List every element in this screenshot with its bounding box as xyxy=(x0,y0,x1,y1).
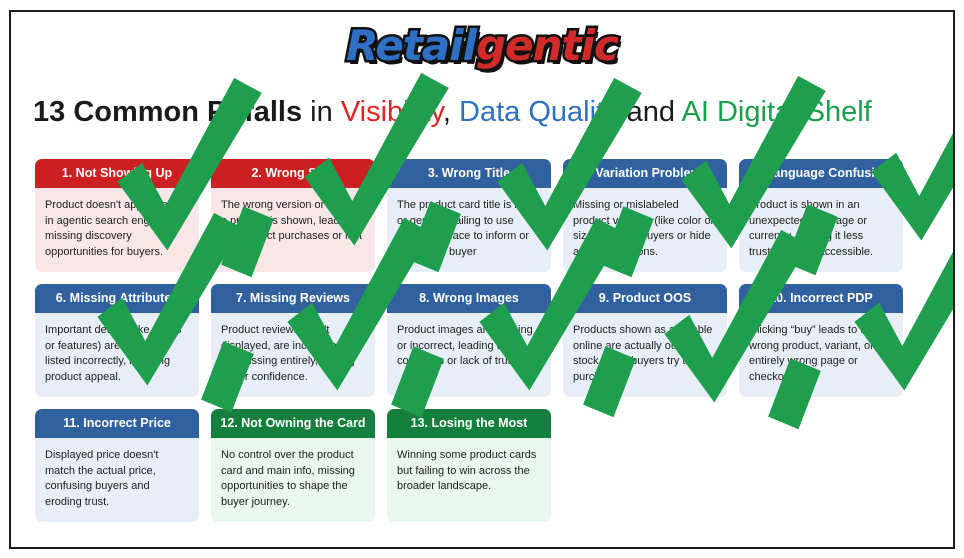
pitfall-card[interactable]: 3. Wrong TitleThe product card title is … xyxy=(387,159,551,272)
pitfall-card-title: 6. Missing Attributes xyxy=(35,284,199,313)
pitfall-card[interactable]: 1. Not Showing UpProduct doesn't appear … xyxy=(35,159,199,272)
pitfall-card[interactable]: 6. Missing AttributesImportant details (… xyxy=(35,284,199,397)
pitfall-card-title: 8. Wrong Images xyxy=(387,284,551,313)
pitfall-card[interactable]: 8. Wrong ImagesProduct images are missin… xyxy=(387,284,551,397)
poster-frame: Retailgentic 13 Common Pitfalls in Visib… xyxy=(9,10,955,549)
pitfall-card-title: 5. Language Confusion xyxy=(739,159,903,188)
pitfall-card-title: 11. Incorrect Price xyxy=(35,409,199,438)
pitfall-card-title: 12. Not Owning the Card xyxy=(211,409,375,438)
title-term-visibility: Visibility xyxy=(341,96,443,128)
brand-logo: Retailgentic xyxy=(11,20,953,80)
pitfall-card-body: The wrong version or size of a product i… xyxy=(211,188,375,272)
title-bold-prefix: 13 Common Pitfalls xyxy=(33,96,302,128)
pitfall-card-title: 3. Wrong Title xyxy=(387,159,551,188)
card-row: 6. Missing AttributesImportant details (… xyxy=(35,284,933,397)
pitfall-card[interactable]: 5. Language ConfusionProduct is shown in… xyxy=(739,159,903,272)
title-term-ai-digital-shelf: AI Digital Shelf xyxy=(682,96,872,128)
grid-spacer xyxy=(563,409,727,522)
pitfall-card[interactable]: 13. Losing the MostWinning some product … xyxy=(387,409,551,522)
pitfall-card[interactable]: 9. Product OOSProducts shown as availabl… xyxy=(563,284,727,397)
title-term-data-quality: Data Quality xyxy=(459,96,619,128)
card-row: 1. Not Showing UpProduct doesn't appear … xyxy=(35,159,933,272)
pitfall-card[interactable]: 11. Incorrect PriceDisplayed price doesn… xyxy=(35,409,199,522)
pitfall-card-title: 4. Variation Problems xyxy=(563,159,727,188)
pitfall-card[interactable]: 10. Incorrect PDPClicking “buy” leads to… xyxy=(739,284,903,397)
pitfall-card-title: 2. Wrong SKU xyxy=(211,159,375,188)
pitfall-card-body: Winning some product cards but failing t… xyxy=(387,438,551,522)
pitfall-card[interactable]: 7. Missing ReviewsProduct reviews aren't… xyxy=(211,284,375,397)
pitfall-card-body: Missing or mislabeled product variants (… xyxy=(563,188,727,272)
title-connector-in: in xyxy=(302,96,341,128)
title-comma: , xyxy=(443,96,459,128)
pitfall-card-body: Products shown as available online are a… xyxy=(563,313,727,397)
pitfall-card-title: 13. Losing the Most xyxy=(387,409,551,438)
logo-text-gentic: gentic xyxy=(476,21,618,70)
pitfall-card-title: 9. Product OOS xyxy=(563,284,727,313)
pitfall-card-body: No control over the product card and mai… xyxy=(211,438,375,522)
pitfall-card-body: Clicking “buy” leads to the wrong produc… xyxy=(739,313,903,397)
logo-text: Retailgentic xyxy=(346,20,618,72)
pitfall-card-title: 10. Incorrect PDP xyxy=(739,284,903,313)
pitfall-card-grid: 1. Not Showing UpProduct doesn't appear … xyxy=(35,159,933,534)
poster-canvas: Retailgentic 13 Common Pitfalls in Visib… xyxy=(0,0,964,558)
pitfall-card[interactable]: 4. Variation ProblemsMissing or mislabel… xyxy=(563,159,727,272)
pitfall-card-body: Product images are missing or incorrect,… xyxy=(387,313,551,397)
pitfall-card[interactable]: 2. Wrong SKUThe wrong version or size of… xyxy=(211,159,375,272)
pitfall-card-body: Product is shown in an unexpected langua… xyxy=(739,188,903,272)
title-connector-and: and xyxy=(619,96,682,128)
pitfall-card-body: Product reviews aren't displayed, are in… xyxy=(211,313,375,397)
pitfall-card-title: 7. Missing Reviews xyxy=(211,284,375,313)
pitfall-card-body: Product doesn't appear at all in agentic… xyxy=(35,188,199,272)
pitfall-card-body: The product card title is brief or gener… xyxy=(387,188,551,272)
pitfall-card-body: Displayed price doesn't match the actual… xyxy=(35,438,199,522)
pitfall-card-title: 1. Not Showing Up xyxy=(35,159,199,188)
grid-spacer xyxy=(739,409,903,522)
pitfall-card[interactable]: 12. Not Owning the CardNo control over t… xyxy=(211,409,375,522)
pitfall-card-body: Important details (like specs or feature… xyxy=(35,313,199,397)
card-row: 11. Incorrect PriceDisplayed price doesn… xyxy=(35,409,933,522)
page-title: 13 Common Pitfalls in Visibility, Data Q… xyxy=(33,92,935,132)
logo-text-retail: Retail xyxy=(346,21,476,70)
